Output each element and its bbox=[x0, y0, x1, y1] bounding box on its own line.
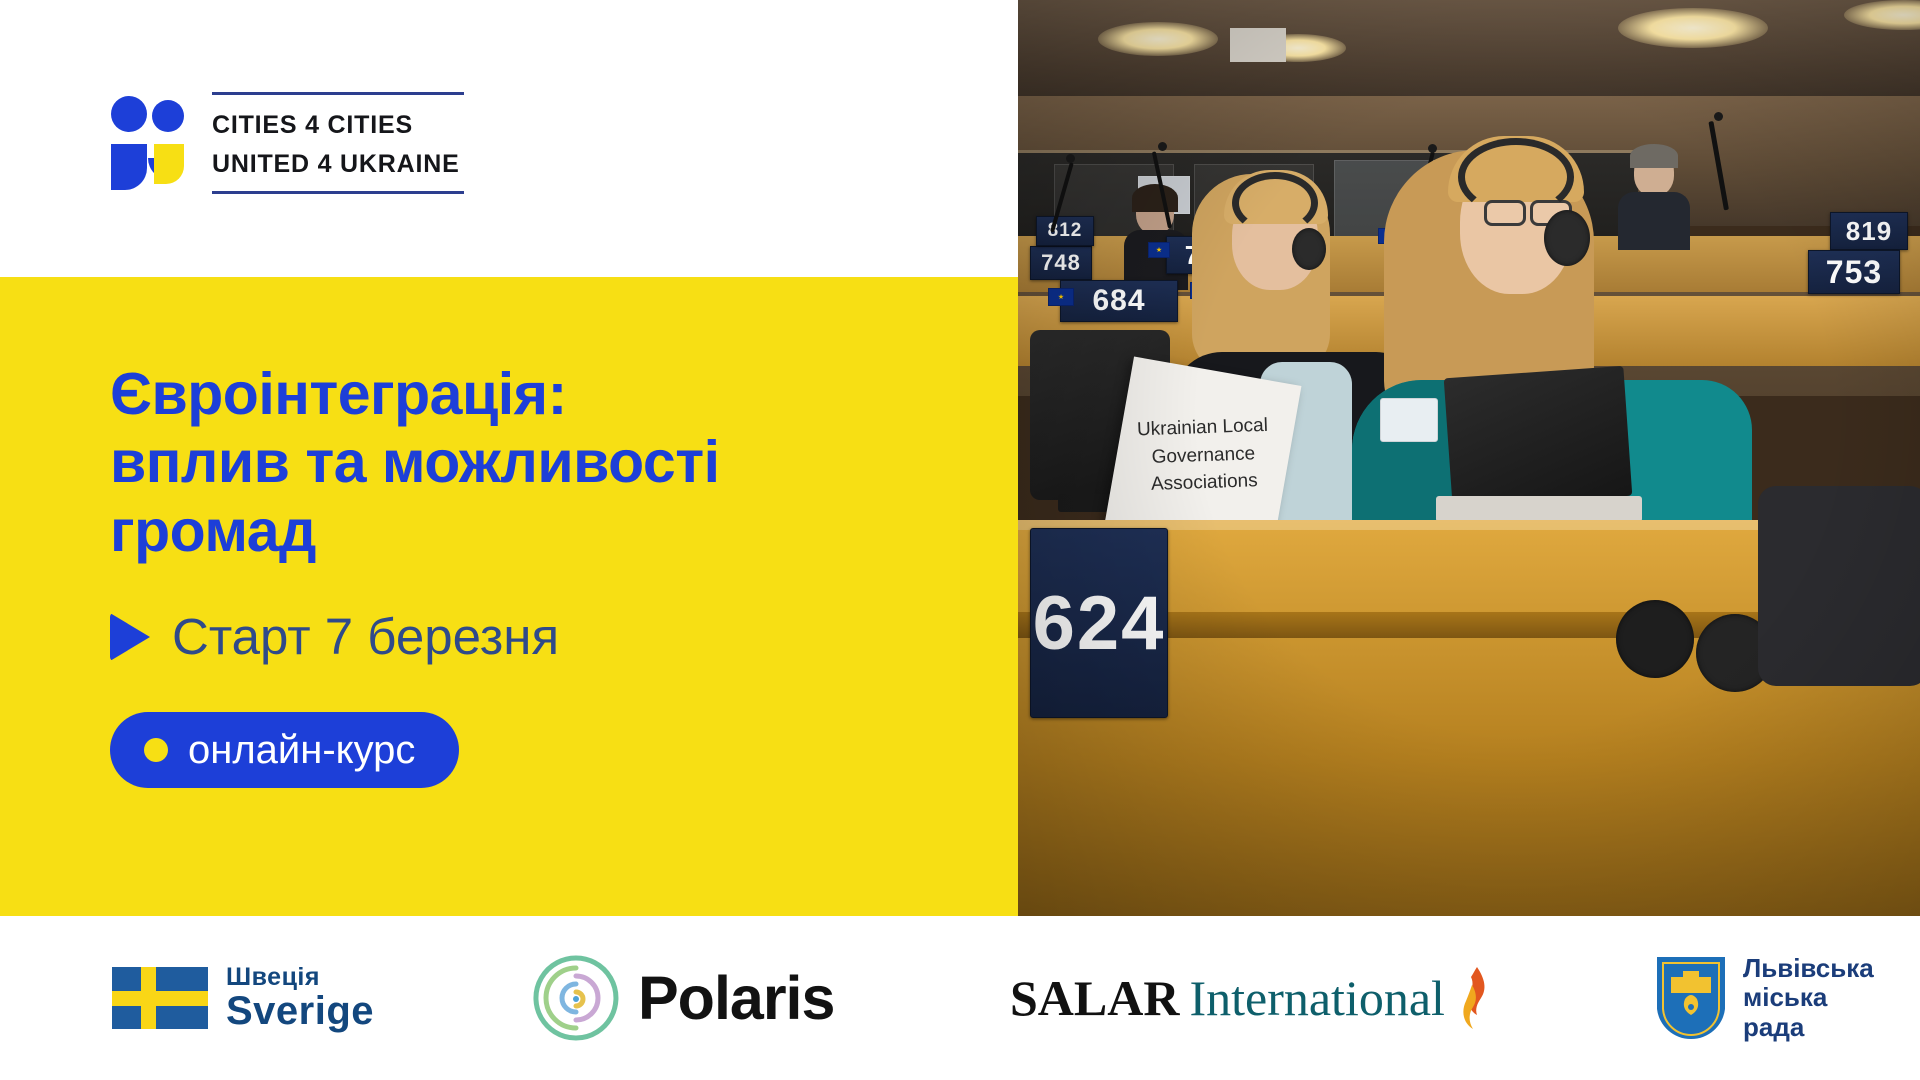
laptop-screen bbox=[1444, 366, 1633, 508]
partner-logo-sweden[interactable]: Швеція Sverige bbox=[112, 964, 374, 1032]
photo-scene: 748 812 684 750 68 819 753 ★ ★ ★ ★ ★ bbox=[1018, 0, 1920, 916]
logo-rule-bottom bbox=[212, 191, 464, 194]
ceiling-light-1 bbox=[1098, 22, 1218, 56]
headset-earcup-icon bbox=[1544, 210, 1590, 266]
headset-band-icon bbox=[1458, 138, 1574, 216]
seat-plate-label: 748 bbox=[1041, 250, 1081, 276]
sign-line-2: Governance bbox=[1137, 439, 1269, 471]
course-format-badge[interactable]: онлайн-курс bbox=[110, 712, 459, 788]
bag bbox=[1758, 486, 1920, 686]
partner-logo-polaris[interactable]: Polaris bbox=[530, 952, 834, 1044]
logo-line-2: UNITED 4 UKRAINE bbox=[212, 145, 460, 184]
seat-plate: 684 bbox=[1060, 280, 1178, 322]
seat-plate: 753 bbox=[1808, 250, 1900, 294]
seat-plate: 812 bbox=[1036, 216, 1094, 246]
swedish-flag-icon bbox=[112, 967, 208, 1029]
lviv-coat-of-arms-icon bbox=[1655, 955, 1727, 1041]
logo-line-1: CITIES 4 CITIES bbox=[212, 106, 460, 145]
salar-flame-icon bbox=[1455, 965, 1491, 1031]
flag-horizontal-bar bbox=[112, 991, 208, 1006]
cities4cities-logo[interactable]: CITIES 4 CITIES UNITED 4 UKRAINE bbox=[108, 92, 460, 192]
eu-stars: ★ bbox=[1058, 294, 1064, 301]
yellow-dot-icon bbox=[144, 738, 168, 762]
headline-line-1: Євроінтеграція: bbox=[110, 360, 970, 428]
hair bbox=[1630, 144, 1678, 168]
seat-plate-label: 819 bbox=[1846, 216, 1892, 247]
headset-earcup-icon bbox=[1292, 228, 1326, 270]
laptop-keyboard bbox=[1436, 496, 1642, 522]
international-word: International bbox=[1189, 969, 1444, 1027]
ceiling-light-3 bbox=[1618, 8, 1768, 48]
eu-flag-icon: ★ bbox=[1148, 242, 1170, 258]
seat-plate: 819 bbox=[1830, 212, 1908, 250]
seat-plate-main: 624 bbox=[1030, 528, 1168, 718]
hair bbox=[1132, 184, 1178, 212]
start-date-row: Старт 7 березня bbox=[110, 607, 559, 666]
eu-stars: ★ bbox=[1156, 247, 1162, 254]
lviv-wordmark: Львівська міська рада bbox=[1743, 954, 1874, 1043]
delegation-sign-text: Ukrainian Local Governance Associations bbox=[1136, 411, 1270, 498]
microphone-head bbox=[1714, 112, 1723, 121]
sweden-wordmark: Швеція Sverige bbox=[226, 964, 374, 1032]
lviv-line-2: міська bbox=[1743, 983, 1874, 1013]
seat-plate-label: 753 bbox=[1826, 254, 1882, 291]
eu-flag-icon: ★ bbox=[1048, 288, 1074, 306]
page-title: Євроінтеграція: вплив та можливості гром… bbox=[110, 360, 970, 565]
seat-plate-label: 684 bbox=[1092, 284, 1145, 318]
seat-plate-main-label: 624 bbox=[1033, 580, 1166, 667]
headline-line-2: вплив та можливості bbox=[110, 428, 970, 496]
microphone-head bbox=[1428, 144, 1437, 153]
microphone-head bbox=[1066, 154, 1075, 163]
partner-logo-salar[interactable]: SALAR International bbox=[1010, 965, 1491, 1031]
play-triangle-icon bbox=[110, 613, 150, 661]
start-date-text: Старт 7 березня bbox=[172, 607, 559, 666]
course-format-label: онлайн-курс bbox=[188, 728, 415, 773]
two-people-logo-mark-icon bbox=[108, 92, 186, 192]
sign-line-1: Ukrainian Local bbox=[1136, 411, 1268, 443]
headset-band-icon bbox=[1232, 172, 1318, 234]
event-photo: 748 812 684 750 68 819 753 ★ ★ ★ ★ ★ bbox=[1018, 0, 1920, 916]
sign-line-3: Associations bbox=[1138, 466, 1270, 498]
salar-word: SALAR bbox=[1010, 969, 1179, 1027]
polaris-spiral-icon bbox=[530, 952, 622, 1044]
torso bbox=[1618, 192, 1690, 250]
partner-logo-lviv[interactable]: Львівська міська рада bbox=[1655, 954, 1874, 1043]
logo-rule-top bbox=[212, 92, 464, 95]
lviv-line-1: Львівська bbox=[1743, 954, 1874, 984]
promo-banner: 748 812 684 750 68 819 753 ★ ★ ★ ★ ★ bbox=[0, 0, 1920, 1080]
sweden-label-sv: Sverige bbox=[226, 990, 374, 1032]
sweden-label-uk: Швеція bbox=[226, 964, 374, 990]
logo-wordmark: CITIES 4 CITIES UNITED 4 UKRAINE bbox=[212, 100, 460, 184]
desk-headphones-icon bbox=[1616, 600, 1694, 678]
partner-logo-strip: Швеція Sverige Polaris SALAR Internat bbox=[0, 916, 1920, 1080]
polaris-wordmark: Polaris bbox=[638, 963, 834, 1033]
microphone-head bbox=[1158, 142, 1167, 151]
name-badge bbox=[1380, 398, 1438, 442]
headline-line-3: громад bbox=[110, 497, 970, 565]
seat-plate: 748 bbox=[1030, 246, 1092, 280]
booth-speaker-grille bbox=[1230, 28, 1286, 62]
lviv-line-3: рада bbox=[1743, 1013, 1874, 1043]
